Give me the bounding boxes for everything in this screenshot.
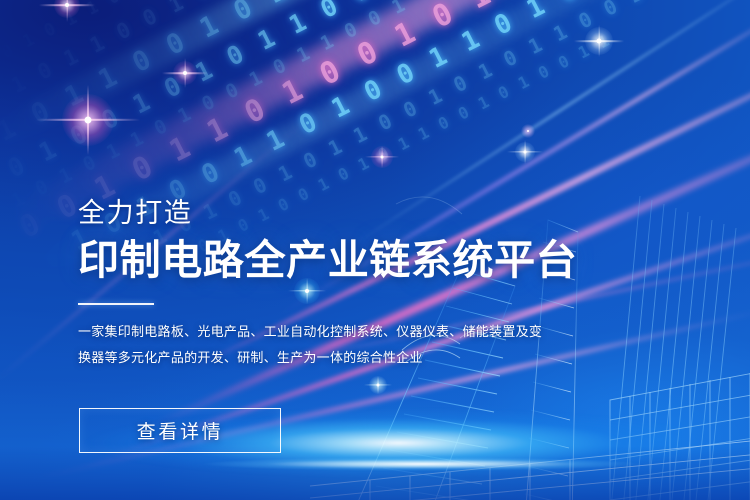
hero-banner: 0 1 1 0 1 0 0 1 0 1 1 0 0 1 0 1 0 1 1 0 … [0, 0, 750, 500]
hero-eyebrow: 全力打造 [78, 196, 598, 230]
page-title: 印制电路全产业链系统平台 [78, 235, 598, 285]
hero-description: 一家集印制电路板、光电产品、工业自动化控制系统、仪器仪表、储能装置及变换器等多元… [78, 319, 548, 371]
view-details-label: 查看详情 [137, 417, 224, 444]
view-details-button[interactable]: 查看详情 [79, 408, 281, 453]
light-beam-core [120, 456, 640, 472]
hero-copy: 全力打造 印制电路全产业链系统平台 一家集印制电路板、光电产品、工业自动化控制系… [78, 196, 598, 371]
title-divider [78, 303, 154, 305]
